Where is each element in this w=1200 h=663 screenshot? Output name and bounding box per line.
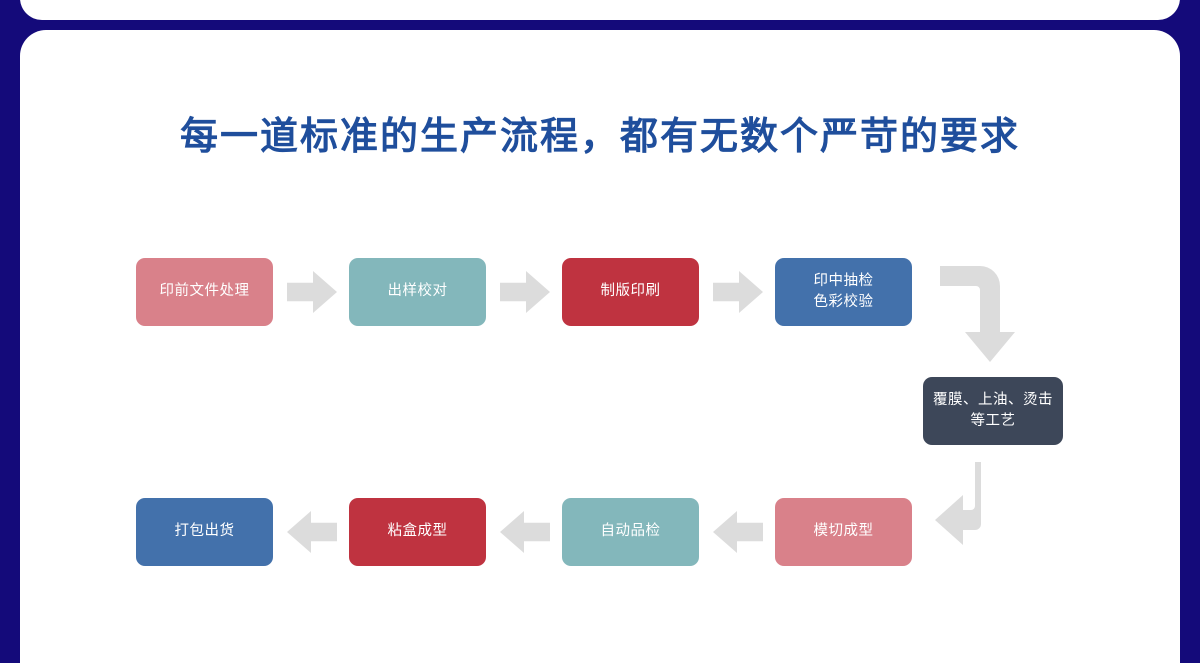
top-card-edge [20,0,1180,20]
flow-node-label-line2: 等工艺 [971,411,1016,432]
flow-node-packing-shipping[interactable]: 打包出货 [136,498,273,566]
elbow-arrow-down-icon [940,262,1015,362]
flow-node-auto-quality-check[interactable]: 自动品检 [562,498,699,566]
flow-node-label: 打包出货 [175,521,235,542]
flow-node-label: 粘盒成型 [388,521,448,542]
flow-node-die-cutting[interactable]: 模切成型 [775,498,912,566]
flow-node-label-line2: 色彩校验 [814,292,874,313]
elbow-arrow-left-icon [935,462,1015,560]
flow-node-label: 制版印刷 [601,281,661,302]
flow-node-label: 出样校对 [388,281,448,302]
flow-node-label: 覆膜、上油、烫击 [933,390,1053,411]
flow-node-box-gluing[interactable]: 粘盒成型 [349,498,486,566]
page-title: 每一道标准的生产流程，都有无数个严苛的要求 [0,105,1200,160]
flow-node-label: 模切成型 [814,521,874,542]
flow-node-pre-press[interactable]: 印前文件处理 [136,258,273,326]
flow-node-inline-inspection[interactable]: 印中抽检 色彩校验 [775,258,912,326]
flow-node-label: 印中抽检 [814,271,874,292]
flow-node-label: 印前文件处理 [160,281,250,302]
slide-canvas: 每一道标准的生产流程，都有无数个严苛的要求 印前文件处理 出样校对 制版印刷 印… [0,0,1200,663]
flow-node-label: 自动品检 [601,521,661,542]
flow-node-plate-printing[interactable]: 制版印刷 [562,258,699,326]
flow-node-sample-proof[interactable]: 出样校对 [349,258,486,326]
flow-node-lamination-process[interactable]: 覆膜、上油、烫击 等工艺 [923,377,1063,445]
